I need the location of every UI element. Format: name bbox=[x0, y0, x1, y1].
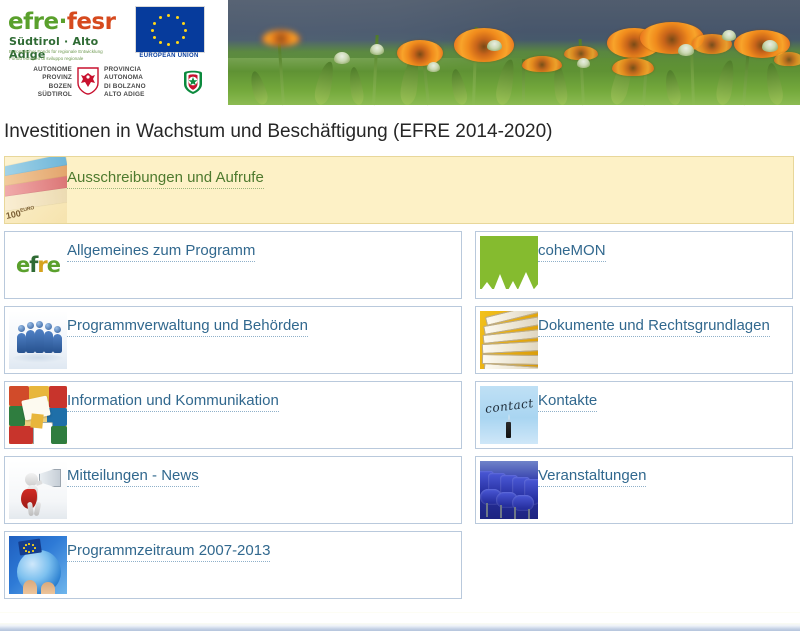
pen-icon bbox=[506, 422, 511, 438]
euro-banknotes-icon: 100EURO bbox=[5, 157, 67, 223]
fesr-word: fesr bbox=[67, 9, 116, 35]
tile-programmverwaltung-und-behoerden[interactable]: Programmverwaltung und Behörden bbox=[4, 306, 462, 374]
tile-allgemeines-zum-programm[interactable]: efre Allgemeines zum Programm bbox=[4, 231, 462, 299]
header-banner-photo bbox=[222, 0, 800, 105]
information-kiosk-icon bbox=[9, 386, 67, 444]
efre-logo-icon: efre bbox=[9, 236, 67, 294]
tile-link-label[interactable]: coheMON bbox=[538, 241, 606, 262]
tile-link-label[interactable]: Allgemeines zum Programm bbox=[67, 241, 255, 262]
tile-information-und-kommunikation[interactable]: Information und Kommunikation bbox=[4, 381, 462, 449]
european-union-flag-icon bbox=[135, 6, 205, 53]
green-mountains-icon bbox=[480, 236, 538, 294]
page-root: efre·fesr Südtirol · Alto Adige Europäis… bbox=[0, 0, 800, 631]
efre-fineprint-de: Europäischer Fonds für regionale Entwick… bbox=[9, 49, 137, 55]
province-label-it: PROVINCIA AUTONOMA DI BOLZANO ALTO ADIGE bbox=[104, 66, 170, 100]
tile-row-4: Information und Kommunikation contact Ko… bbox=[0, 381, 800, 456]
tile-dokumente-und-rechtsgrundlagen[interactable]: Dokumente und Rechtsgrundlagen bbox=[475, 306, 793, 374]
link-tile-grid: 100EURO Ausschreibungen und Aufrufe efre… bbox=[0, 156, 800, 606]
contact-note-icon: contact bbox=[480, 386, 538, 444]
contact-handwriting-text: contact bbox=[484, 396, 534, 416]
blue-chairs-icon bbox=[480, 461, 538, 519]
efre-separator: · bbox=[59, 9, 67, 35]
tile-link-label[interactable]: Veranstaltungen bbox=[538, 466, 646, 487]
tile-row-6: Programmzeitraum 2007-2013 bbox=[0, 531, 800, 606]
tile-row-5: Mitteilungen - News bbox=[0, 456, 800, 531]
tile-link-label[interactable]: Mitteilungen - News bbox=[67, 466, 199, 487]
site-header: efre·fesr Südtirol · Alto Adige Europäis… bbox=[0, 0, 800, 110]
tile-row-3: Programmverwaltung und Behörden Dokument… bbox=[0, 306, 800, 381]
italian-republic-emblem-icon bbox=[178, 64, 208, 97]
tile-link-label[interactable]: Programmzeitraum 2007-2013 bbox=[67, 541, 270, 562]
efre-fineprint-it: Fondo europeo di sviluppo regionale bbox=[9, 56, 137, 62]
footer-divider bbox=[0, 612, 800, 613]
efre-word: efre bbox=[8, 9, 59, 35]
tile-link-label[interactable]: Information und Kommunikation bbox=[67, 391, 279, 412]
footer-band bbox=[0, 623, 800, 631]
tile-veranstaltungen[interactable]: Veranstaltungen bbox=[475, 456, 793, 524]
tile-row-2: efre Allgemeines zum Programm co bbox=[0, 231, 800, 306]
globe-eu-icon bbox=[9, 536, 67, 594]
tile-link-label[interactable]: Ausschreibungen und Aufrufe bbox=[67, 168, 264, 189]
tile-ausschreibungen-und-aufrufe[interactable]: 100EURO Ausschreibungen und Aufrufe bbox=[4, 156, 794, 224]
institutional-logos: efre·fesr Südtirol · Alto Adige Europäis… bbox=[0, 0, 228, 110]
page-title: Investitionen in Wachstum und Beschäftig… bbox=[4, 116, 794, 148]
stacked-books-icon bbox=[480, 311, 538, 369]
tile-programmzeitraum-2007-2013[interactable]: Programmzeitraum 2007-2013 bbox=[4, 531, 462, 599]
tile-link-label[interactable]: Dokumente und Rechtsgrundlagen bbox=[538, 316, 770, 337]
tile-mitteilungen-news[interactable]: Mitteilungen - News bbox=[4, 456, 462, 524]
european-union-label: EUROPEAN UNION bbox=[133, 53, 205, 59]
tile-kontakte[interactable]: contact Kontakte bbox=[475, 381, 793, 449]
megaphone-figure-icon bbox=[9, 461, 67, 519]
tile-link-label[interactable]: Kontakte bbox=[538, 391, 597, 412]
tile-row-1: 100EURO Ausschreibungen und Aufrufe bbox=[0, 156, 800, 231]
people-group-icon bbox=[9, 311, 67, 369]
tile-link-label[interactable]: Programmverwaltung und Behörden bbox=[67, 316, 308, 337]
tile-cohemon[interactable]: coheMON bbox=[475, 231, 793, 299]
efre-fesr-wordmark: efre·fesr bbox=[8, 10, 128, 34]
south-tyrol-eagle-shield-icon bbox=[76, 66, 100, 96]
province-label-de: AUTONOME PROVINZ BOZEN SÜDTIROL bbox=[14, 66, 72, 100]
